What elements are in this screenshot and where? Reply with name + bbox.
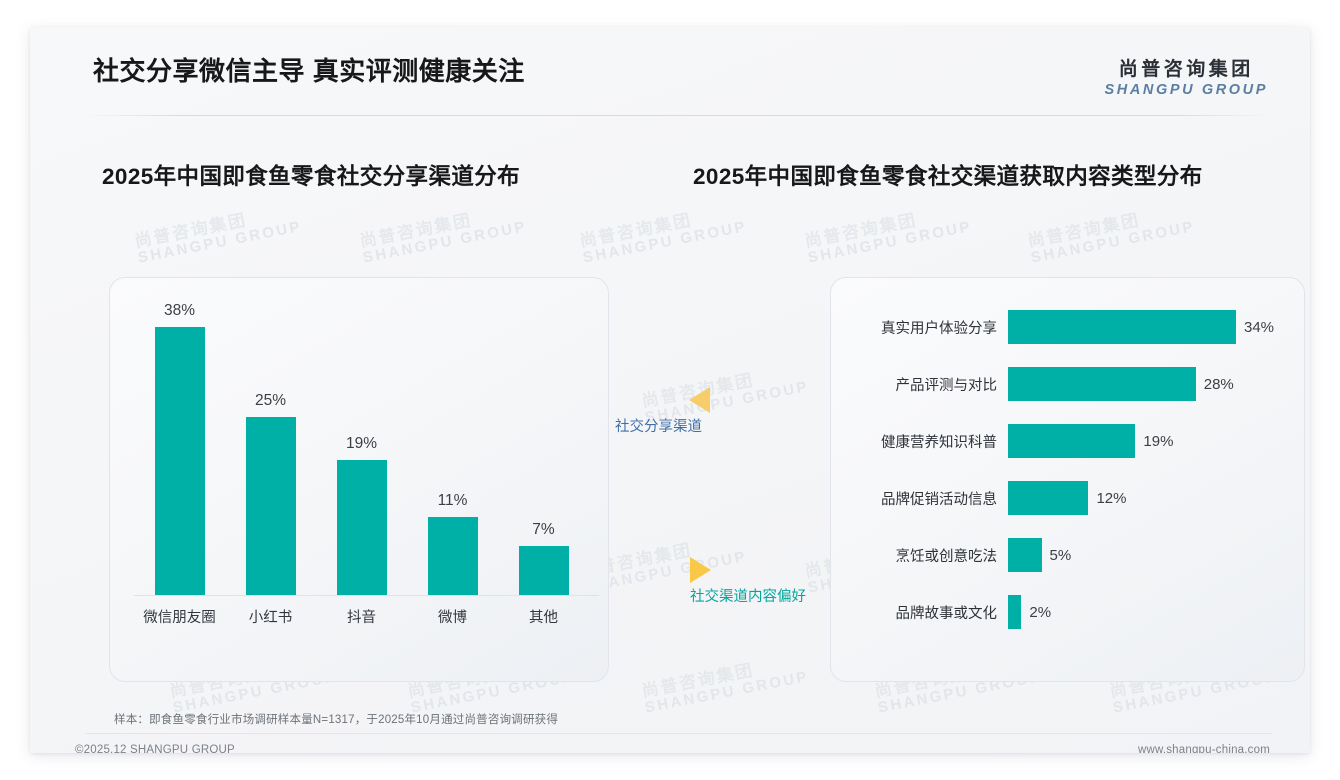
bar-row-label: 品牌促销活动信息 xyxy=(850,488,1008,509)
bar-row-track: 2% xyxy=(1008,595,1295,629)
bar-rect xyxy=(1008,367,1196,401)
bar-row-label: 品牌故事或文化 xyxy=(850,602,1008,623)
bar-rect xyxy=(1008,538,1042,572)
bar-row: 健康营养知识科普19% xyxy=(850,424,1295,458)
bar-value-label: 28% xyxy=(1204,376,1234,393)
bar-rect xyxy=(246,417,296,596)
triangle-right-icon xyxy=(690,557,711,583)
bar-category-label: 其他 xyxy=(529,606,558,627)
left-chart-title: 2025年中国即食鱼零食社交分享渠道分布 xyxy=(102,159,520,191)
social-share-channel-bar-chart: 38%微信朋友圈25%小红书19%抖音11%微博7%其他 xyxy=(134,302,599,632)
bar-rect xyxy=(519,546,569,596)
bar-value-label: 19% xyxy=(1143,433,1173,450)
bar-value-label: 19% xyxy=(346,435,377,453)
watermark-text: 尚普咨询集团SHANGPU GROUP xyxy=(358,201,528,266)
bar-value-label: 34% xyxy=(1244,319,1274,336)
watermark-text: 尚普咨询集团SHANGPU GROUP xyxy=(803,201,973,266)
bar-row-track: 5% xyxy=(1008,538,1295,572)
bar-rect xyxy=(1008,424,1135,458)
bar-row: 品牌故事或文化2% xyxy=(850,595,1295,629)
bar-value-label: 2% xyxy=(1029,604,1051,621)
bar-category-label: 小红书 xyxy=(249,606,293,627)
watermark-text: 尚普咨询集团SHANGPU GROUP xyxy=(640,651,810,716)
bar-category-label: 微信朋友圈 xyxy=(143,606,216,627)
page-title: 社交分享微信主导 真实评测健康关注 xyxy=(93,51,525,88)
bar-rect xyxy=(337,460,387,596)
content-type-bar-chart: 真实用户体验分享34%产品评测与对比28%健康营养知识科普19%品牌促销活动信息… xyxy=(850,310,1295,655)
bar-value-label: 12% xyxy=(1096,490,1126,507)
bar-value-label: 11% xyxy=(438,492,468,510)
bar-column: 25%小红书 xyxy=(225,302,316,596)
bar-row-label: 健康营养知识科普 xyxy=(850,431,1008,452)
bar-column: 7%其他 xyxy=(498,302,589,596)
bar-rect xyxy=(1008,310,1236,344)
bar-rect xyxy=(1008,481,1088,515)
bar-row-track: 28% xyxy=(1008,367,1295,401)
footer-divider xyxy=(85,733,1272,734)
bar-column: 38%微信朋友圈 xyxy=(134,302,225,596)
bar-value-label: 7% xyxy=(532,521,554,539)
watermark-text: 尚普咨询集团SHANGPU GROUP xyxy=(133,201,303,266)
sample-note: 样本：即食鱼零食行业市场调研样本量N=1317，于2025年10月通过尚普咨询调… xyxy=(114,711,558,727)
bar-row: 真实用户体验分享34% xyxy=(850,310,1295,344)
brand-logo: 尚普咨询集团 SHANGPU GROUP xyxy=(1104,54,1268,98)
bar-rect xyxy=(155,327,205,596)
watermark-text: 尚普咨询集团SHANGPU GROUP xyxy=(578,201,748,266)
bar-row-label: 真实用户体验分享 xyxy=(850,317,1008,338)
annotation-content-preference: 社交渠道内容偏好 xyxy=(690,557,806,606)
slide-canvas: 尚普咨询集团SHANGPU GROUP尚普咨询集团SHANGPU GROUP尚普… xyxy=(30,27,1310,753)
bar-row-label: 烹饪或创意吃法 xyxy=(850,545,1008,566)
triangle-left-icon xyxy=(689,387,710,413)
bar-row-track: 34% xyxy=(1008,310,1295,344)
annotation-content-preference-label: 社交渠道内容偏好 xyxy=(690,585,806,606)
annotation-social-share-channel: 社交分享渠道 xyxy=(615,387,710,436)
header-divider xyxy=(85,115,1272,116)
right-chart-title: 2025年中国即食鱼零食社交渠道获取内容类型分布 xyxy=(693,159,1203,191)
website-link[interactable]: www.shangpu-china.com xyxy=(1138,744,1270,753)
copyright-text: ©2025.12 SHANGPU GROUP xyxy=(75,744,235,753)
slide-header: 社交分享微信主导 真实评测健康关注 尚普咨询集团 SHANGPU GROUP xyxy=(30,27,1310,115)
bar-column: 11%微博 xyxy=(407,302,498,596)
bar-row-track: 19% xyxy=(1008,424,1295,458)
bar-category-label: 抖音 xyxy=(347,606,376,627)
bar-row: 烹饪或创意吃法5% xyxy=(850,538,1295,572)
bar-row-track: 12% xyxy=(1008,481,1295,515)
bar-row: 产品评测与对比28% xyxy=(850,367,1295,401)
bar-value-label: 38% xyxy=(164,302,195,320)
bar-rect xyxy=(428,517,478,596)
annotation-social-share-channel-label: 社交分享渠道 xyxy=(615,415,710,436)
logo-chinese-text: 尚普咨询集团 xyxy=(1104,54,1268,81)
watermark-text: 尚普咨询集团SHANGPU GROUP xyxy=(1026,201,1196,266)
bar-rect xyxy=(1008,595,1021,629)
bar-value-label: 5% xyxy=(1050,547,1072,564)
logo-english-text: SHANGPU GROUP xyxy=(1104,82,1268,98)
bar-category-label: 微博 xyxy=(438,606,467,627)
bar-value-label: 25% xyxy=(255,392,286,410)
bar-column: 19%抖音 xyxy=(316,302,407,596)
bar-row: 品牌促销活动信息12% xyxy=(850,481,1295,515)
left-chart-baseline xyxy=(134,595,599,596)
bar-row-label: 产品评测与对比 xyxy=(850,374,1008,395)
